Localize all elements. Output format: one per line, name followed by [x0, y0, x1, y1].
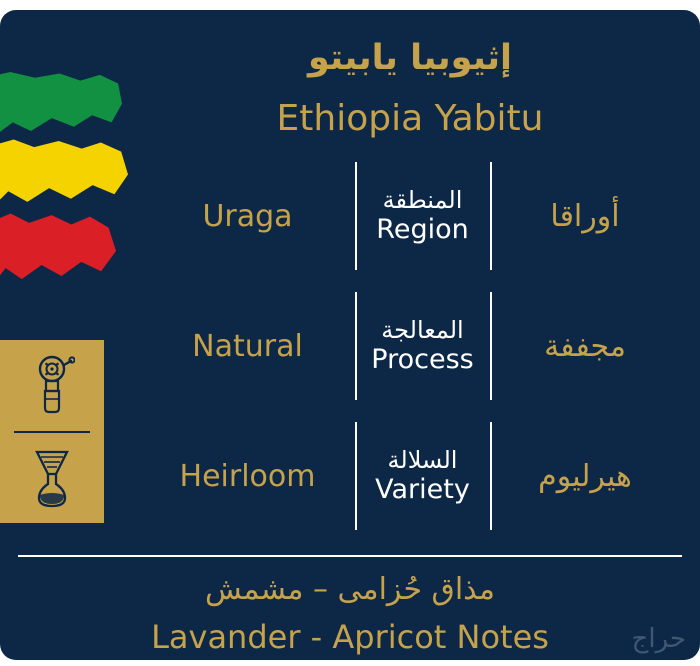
table-row: Heirloom السلالة Variety هيرليوم — [140, 418, 680, 534]
brew-method-panel — [0, 340, 104, 523]
card-body: إثيوبيا يابيتو Ethiopia Yabitu Uraga الم… — [0, 10, 700, 660]
process-label-ar: المعالجة — [355, 316, 490, 344]
coffee-label-card: إثيوبيا يابيتو Ethiopia Yabitu Uraga الم… — [0, 0, 700, 666]
variety-value-ar: هيرليوم — [490, 459, 680, 494]
flag-red-stroke-icon — [0, 212, 116, 290]
process-label-en: Process — [355, 344, 490, 376]
watermark-text: حراج — [632, 624, 686, 654]
pour-over-brewer-icon — [29, 446, 75, 510]
variety-label-ar: السلالة — [355, 446, 490, 474]
grinder-icon-cell — [0, 340, 104, 431]
variety-label-en: Variety — [355, 474, 490, 506]
region-label: المنطقة Region — [355, 186, 490, 246]
region-label-en: Region — [355, 214, 490, 246]
flag-green-stroke-icon — [0, 72, 122, 144]
variety-label: السلالة Variety — [355, 446, 490, 506]
process-value-en: Natural — [140, 329, 355, 364]
process-label: المعالجة Process — [355, 316, 490, 376]
table-row: Natural المعالجة Process مجففة — [140, 288, 680, 404]
region-value-ar: أوراقا — [490, 199, 680, 234]
top-margin — [0, 0, 700, 10]
table-row: Uraga المنطقة Region أوراقا — [140, 158, 680, 274]
title-english: Ethiopia Yabitu — [150, 98, 670, 139]
process-value-ar: مجففة — [490, 329, 680, 364]
flag-yellow-stroke-icon — [0, 138, 128, 214]
brewer-icon-cell — [0, 432, 104, 523]
variety-value-en: Heirloom — [140, 459, 355, 494]
footer-divider — [18, 555, 682, 557]
ethiopia-flag-brush-icon — [0, 72, 142, 287]
tasting-notes-en: Lavander - Apricot Notes — [0, 618, 700, 656]
coffee-grinder-icon — [29, 355, 75, 417]
region-label-ar: المنطقة — [355, 186, 490, 214]
region-value-en: Uraga — [140, 199, 355, 234]
attributes-table: Uraga المنطقة Region أوراقا Natural المع… — [140, 158, 680, 540]
bottom-margin — [0, 660, 700, 666]
title-arabic: إثيوبيا يابيتو — [150, 38, 670, 78]
tasting-notes-ar: مذاق حُزامى – مشمش — [0, 572, 700, 607]
